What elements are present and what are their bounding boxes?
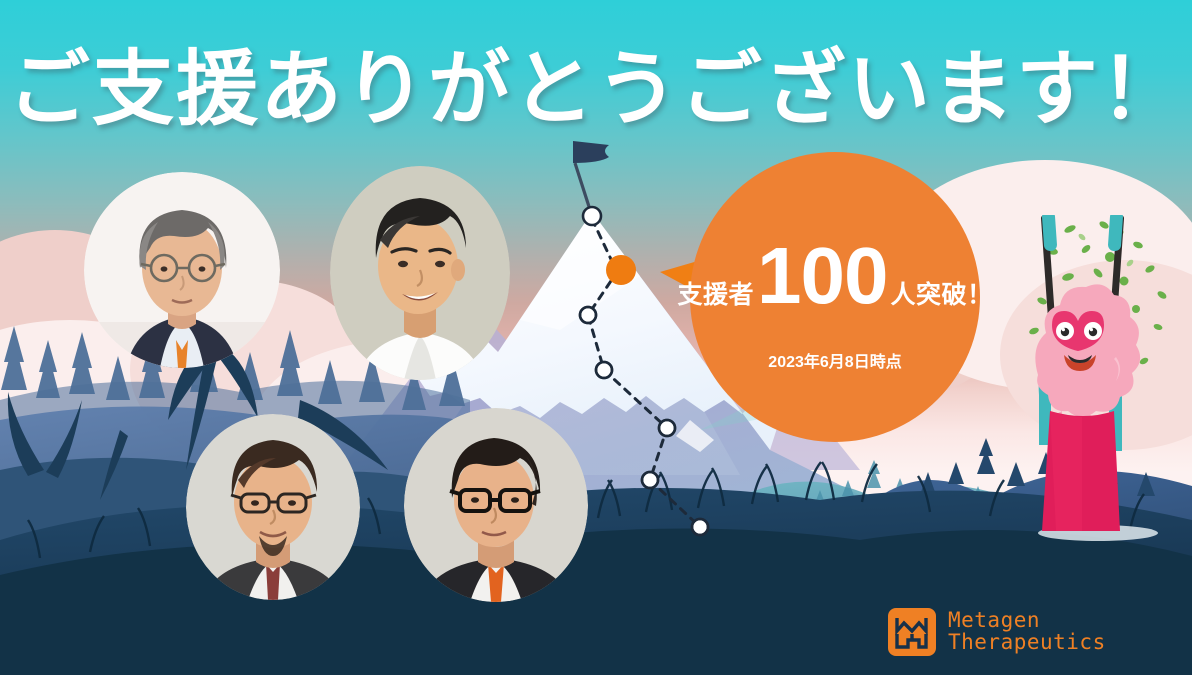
promo-banner: 支援者 100 人突破！ 2023年6月8日時点 ご支援ありがとうございます！ — [0, 0, 1192, 675]
brand-wordmark: Metagen Therapeutics — [948, 610, 1106, 654]
supporters-badge-text: 支援者 100 人突破！ 2023年6月8日時点 — [690, 152, 980, 442]
portrait-bottom-center — [404, 408, 588, 602]
supporters-count: 100 — [757, 240, 887, 312]
brand-line-1: Metagen — [948, 610, 1106, 632]
current-progress-marker — [606, 255, 636, 285]
brand-logo: Metagen Therapeutics — [888, 608, 1106, 656]
supporters-suffix-label: 人突破！ — [891, 275, 993, 311]
portrait-top-center — [330, 166, 510, 380]
summit-flag-group — [573, 141, 609, 216]
mascot-intestine-character — [1020, 215, 1148, 545]
portrait-top-left — [84, 172, 280, 368]
page-title: ご支援ありがとうございます！ — [0, 22, 1192, 141]
supporters-count-line: 支援者 100 人突破！ — [678, 240, 993, 312]
as-of-date: 2023年6月8日時点 — [768, 348, 901, 372]
brand-line-2: Therapeutics — [948, 632, 1106, 654]
mascot-pants — [1042, 411, 1120, 531]
portrait-bottom-left — [186, 414, 360, 600]
metagen-monogram-icon — [888, 608, 936, 656]
supporters-prefix-label: 支援者 — [678, 275, 755, 311]
